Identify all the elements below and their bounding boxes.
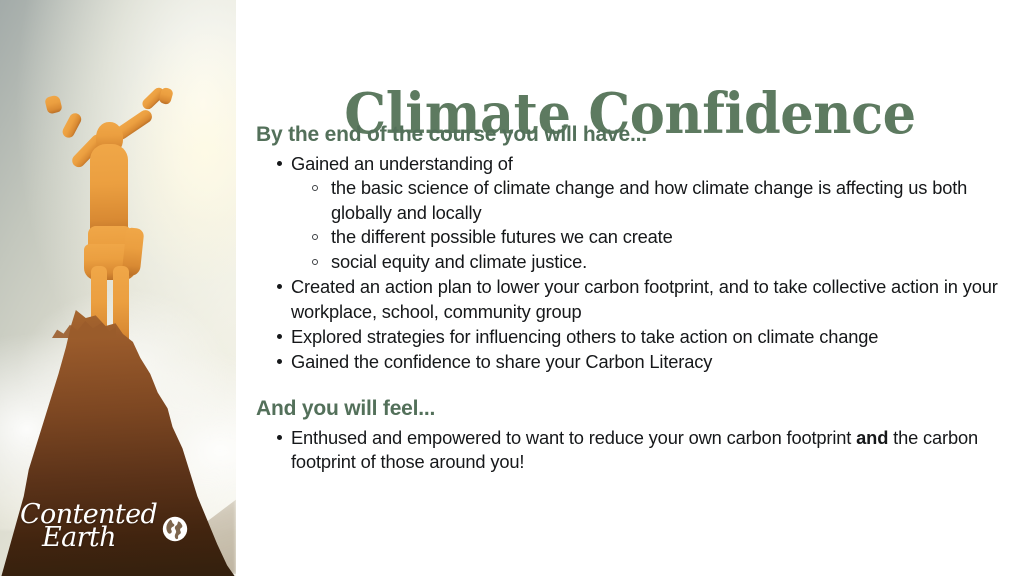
list-item: Enthused and empowered to want to reduce… [256, 426, 1008, 474]
list-item: Explored strategies for influencing othe… [256, 325, 1008, 349]
sub-list-item: the basic science of climate change and … [291, 176, 1008, 225]
globe-icon [161, 515, 189, 548]
list-item-label-before: Enthused and empowered to want to reduce… [291, 427, 856, 448]
list-item: Gained the confidence to share your Carb… [256, 350, 1008, 374]
outcomes-list: Gained an understanding of the basic sci… [256, 152, 1008, 374]
right-hand [158, 87, 174, 106]
list-item-label: Explored strategies for influencing othe… [291, 326, 878, 347]
hero-photo-panel: Contented Earth [0, 0, 236, 576]
list-item-label: Created an action plan to lower your car… [291, 276, 998, 321]
feelings-list: Enthused and empowered to want to reduce… [256, 426, 1008, 474]
bullet-icon [277, 334, 282, 339]
bullet-icon [277, 161, 282, 166]
left-fist [44, 94, 63, 114]
left-forearm [60, 111, 83, 140]
body-content: By the end of the course you will have..… [256, 122, 1008, 476]
bullet-icon [277, 435, 282, 440]
sub-list-item-label: social equity and climate justice. [331, 251, 587, 272]
hollow-bullet-icon [312, 259, 318, 265]
logo-line-two: Earth [42, 526, 157, 550]
list-item-label: Gained the confidence to share your Carb… [291, 351, 712, 372]
section-feelings: And you will feel... Enthused and empowe… [256, 396, 1008, 475]
hollow-bullet-icon [312, 234, 318, 240]
sub-list-item-label: the basic science of climate change and … [331, 177, 967, 223]
sub-list-item: social equity and climate justice. [291, 250, 1008, 275]
slide-root: Contented Earth Climate Confidence By th… [0, 0, 1024, 576]
list-item-label: Gained an understanding of [291, 153, 513, 174]
bullet-icon [277, 359, 282, 364]
list-item: Gained an understanding of the basic sci… [256, 152, 1008, 274]
person-silhouette [44, 86, 172, 348]
list-item-label-emphasis: and [856, 427, 888, 448]
section-course-outcomes: By the end of the course you will have..… [256, 122, 1008, 374]
sub-list-item-label: the different possible futures we can cr… [331, 226, 673, 247]
bullet-icon [277, 284, 282, 289]
list-item: Created an action plan to lower your car… [256, 275, 1008, 323]
logo-wordmark: Contented Earth [20, 503, 157, 551]
sub-list: the basic science of climate change and … [291, 176, 1008, 274]
hollow-bullet-icon [312, 185, 318, 191]
brand-logo: Contented Earth [20, 503, 189, 551]
section-heading-outcomes: By the end of the course you will have..… [256, 122, 1008, 148]
slide-content: Climate Confidence By the end of the cou… [236, 0, 1024, 576]
section-heading-feelings: And you will feel... [256, 396, 1008, 422]
sub-list-item: the different possible futures we can cr… [291, 225, 1008, 250]
